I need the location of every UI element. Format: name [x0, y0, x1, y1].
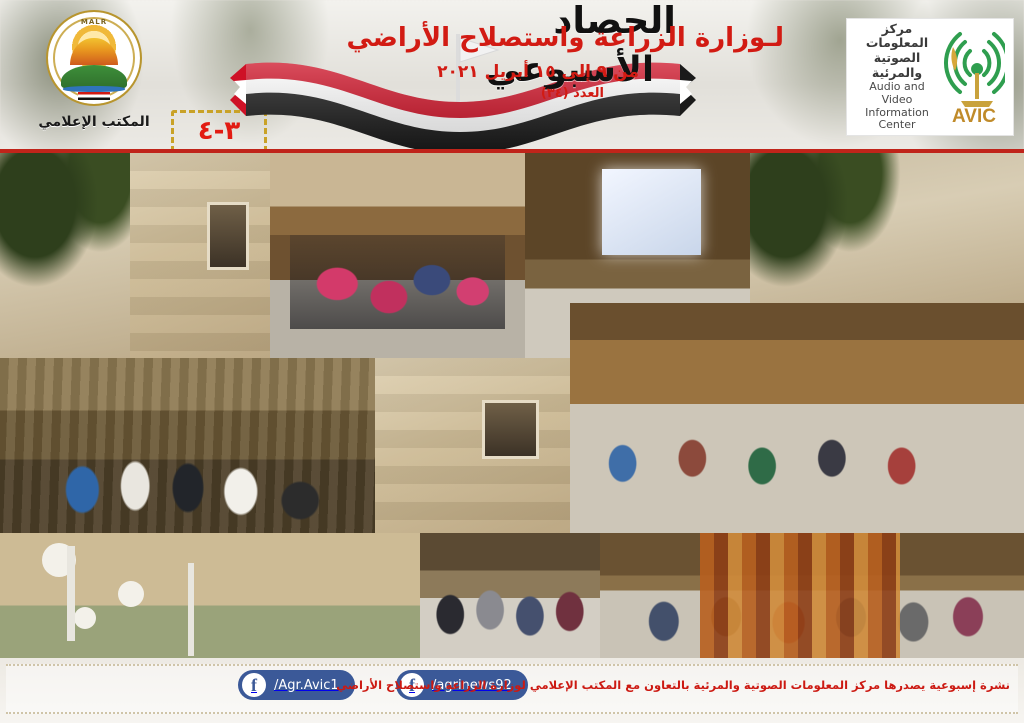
- seal-flag-shape: [78, 92, 109, 100]
- photo-desert-center-building: [130, 153, 270, 358]
- photo-livestock-barn: [0, 358, 375, 533]
- photo-street-lamps: [0, 533, 420, 658]
- seal-sun-shape: [70, 38, 118, 66]
- facebook-icon: f: [242, 673, 266, 697]
- issue-number: العدد (٣٤): [541, 86, 604, 101]
- avic-logo-card: AVIC مركز المعلومات الصوتية والمرئية Aud…: [846, 18, 1014, 136]
- newsletter-header: MALR المكتب الإعلامي ٣-٤: [0, 0, 1024, 153]
- ministry-seal-icon: MALR: [46, 10, 142, 106]
- issue-dates: من ٩ إلى ١٥ أبريل ٢٠٢١: [437, 62, 639, 82]
- ministry-seal-acronym: MALR: [48, 18, 140, 26]
- newsletter-page: MALR المكتب الإعلامي ٣-٤: [0, 0, 1024, 723]
- avic-english-line2: Information Center: [855, 107, 939, 133]
- avic-english-line1: Audio and Video: [855, 81, 939, 107]
- photo-palm-trees: [0, 153, 130, 358]
- avic-broadcast-icon: AVIC: [943, 29, 1005, 125]
- photo-lecture-hall-audience: [570, 303, 1024, 533]
- photo-woven-carpets: [700, 533, 900, 658]
- facebook-handle-1: /Agr.Avic1: [274, 678, 339, 693]
- newsletter-footer: f /Agr.Avic1 f /agrinews92 نشرة إسبوعية …: [0, 658, 1024, 723]
- photo-seated-attendees: [420, 533, 600, 658]
- svg-text:AVIC: AVIC: [952, 106, 996, 125]
- photo-computer-training-lab: [270, 153, 525, 358]
- title-ministry: لـوزارة الزراعة واستصلاح الأراضي: [347, 24, 785, 53]
- media-office-label: المكتب الإعلامي: [38, 114, 150, 130]
- photo-institute-facade: [375, 358, 570, 533]
- photo-collage-area: ١١ نفذ مركز التدريب المعتمد بمركز بحوث ا…: [0, 153, 1024, 658]
- avic-text-block: مركز المعلومات الصوتية والمرئية Audio an…: [855, 22, 939, 133]
- ministry-logo: MALR المكتب الإعلامي: [38, 10, 150, 150]
- avic-arabic-line2: الصوتية والمرئية: [855, 51, 939, 81]
- avic-arabic-line1: مركز المعلومات: [855, 22, 939, 52]
- photo-palm-yard: [750, 153, 1024, 303]
- footer-note: نشرة إسبوعية يصدرها مركز المعلومات الصوت…: [336, 678, 1010, 692]
